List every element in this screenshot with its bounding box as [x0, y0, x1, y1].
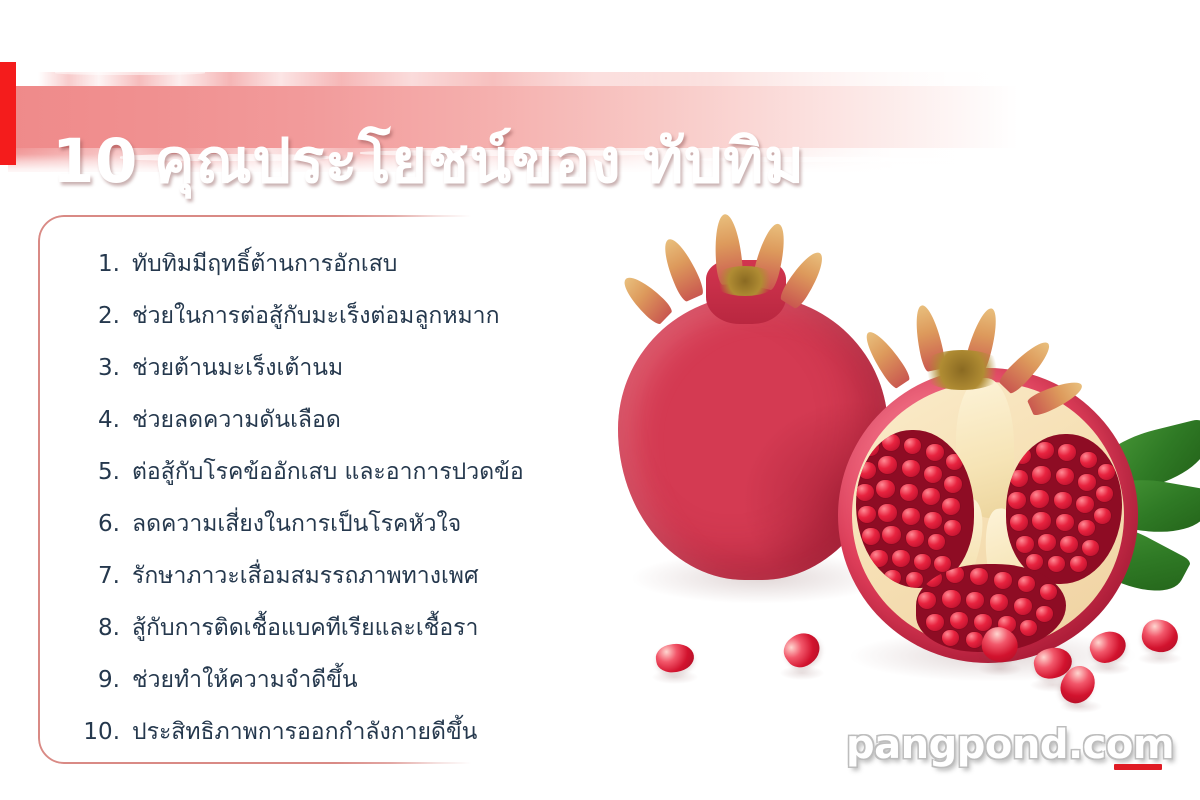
crown-petal-icon [657, 234, 706, 303]
list-item-number: 2. [78, 290, 132, 342]
list-item-label: รักษาภาวะเสื่อมสมรรถภาพทางเพศ [132, 550, 479, 602]
infographic-poster: 10 คุณประโยชน์ของ ทับทิม 1. ทับทิมมีฤทธิ… [0, 0, 1200, 800]
site-watermark: pangpond.com [846, 722, 1174, 768]
watermark-underline [1114, 764, 1162, 770]
list-item-number: 6. [78, 498, 132, 550]
list-item-number: 10. [78, 706, 132, 758]
aril-cluster [856, 430, 974, 588]
pomegranate-seed [778, 626, 826, 673]
title-middle-text: คุณประโยชน์ของ [154, 131, 621, 192]
title-subject-text: ทับทิม [643, 131, 804, 192]
list-item-label: ช่วยทำให้ความจำดีขึ้น [132, 654, 358, 706]
list-item-number: 9. [78, 654, 132, 706]
list-item-label: สู้กับการติดเชื้อแบคทีเรียและเชื้อรา [132, 602, 478, 654]
list-item-label: ช่วยลดความดันเลือด [132, 394, 341, 446]
brush-streak [55, 70, 205, 75]
title-count: 10 [52, 131, 138, 192]
list-item-number: 3. [78, 342, 132, 394]
seed-shadow [1088, 662, 1130, 675]
brush-top-edge [8, 66, 1018, 86]
list-item-number: 1. [78, 238, 132, 290]
page-title: 10 คุณประโยชน์ของ ทับทิม [52, 119, 1052, 205]
list-item-label: ช่วยต้านมะเร็งเต้านม [132, 342, 343, 394]
list-item-label: ลดความเสี่ยงในการเป็นโรคหัวใจ [132, 498, 461, 550]
seed-shadow [780, 666, 824, 680]
list-item-label: ช่วยในการต่อสู้กับมะเร็งต่อมลูกหมาก [132, 290, 500, 342]
half-pomegranate [838, 368, 1138, 663]
crown-petal-icon [617, 270, 674, 326]
crown-pollen [712, 266, 778, 296]
red-accent-bar [0, 62, 16, 165]
list-item-number: 8. [78, 602, 132, 654]
pomegranate-seed [1139, 617, 1181, 656]
pomegranate-seed [654, 641, 696, 674]
crown-pollen [918, 350, 1006, 390]
list-item-number: 5. [78, 446, 132, 498]
pomegranate-illustration [590, 200, 1200, 720]
list-item-label: ต่อสู้กับโรคข้ออักเสบ และอาการปวดข้อ [132, 446, 524, 498]
seed-shadow [978, 662, 1022, 676]
list-item-number: 4. [78, 394, 132, 446]
list-item-label: ทับทิมมีฤทธิ์ต้านการอักเสบ [132, 238, 397, 290]
seed-shadow [1138, 652, 1182, 665]
list-item-label: ประสิทธิภาพการออกกำลังกายดีขึ้น [132, 706, 477, 758]
list-item-number: 7. [78, 550, 132, 602]
